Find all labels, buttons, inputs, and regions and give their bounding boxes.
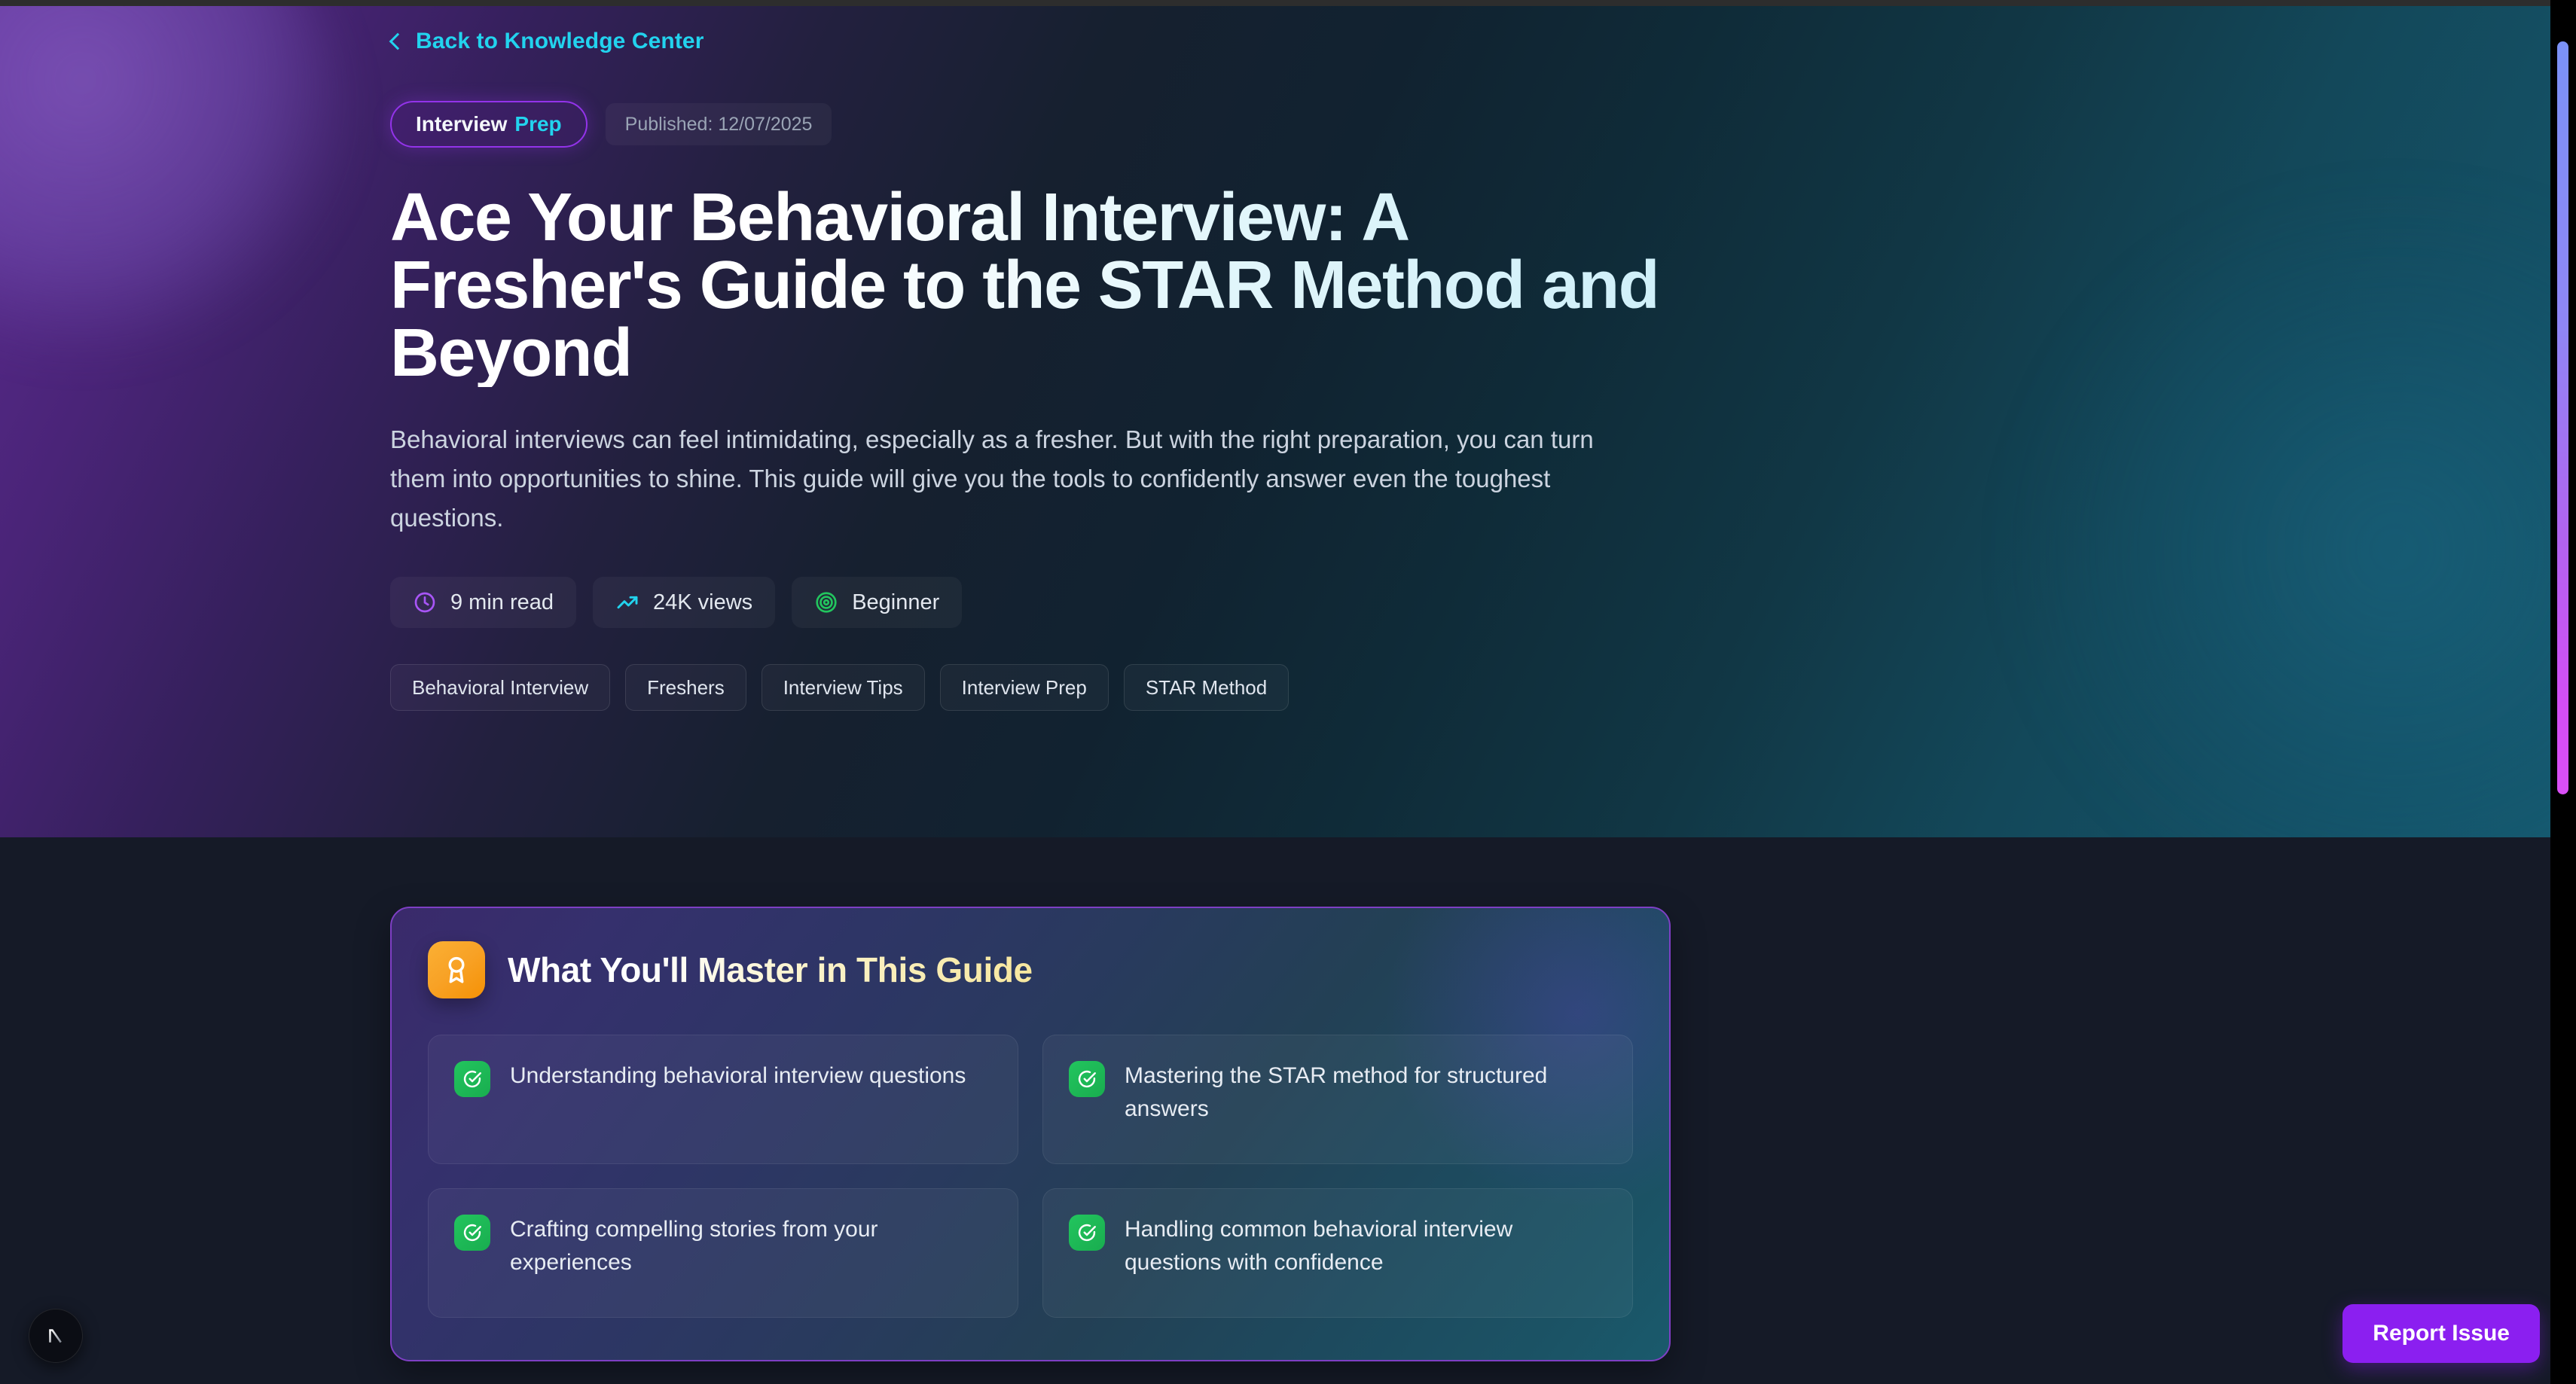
what-you-will-master-card: What You'll Master in This Guide Underst… — [390, 907, 1671, 1361]
stat-read-time-label: 9 min read — [450, 590, 554, 615]
tag-item[interactable]: Freshers — [625, 664, 746, 711]
stat-views-label: 24K views — [653, 590, 752, 615]
mastery-item[interactable]: Handling common behavioral interview que… — [1042, 1188, 1633, 1318]
master-card-title: What You'll Master in This Guide — [508, 950, 1033, 990]
page-scrollbar-track[interactable] — [2550, 0, 2576, 1384]
chevron-left-icon — [389, 32, 407, 50]
mastery-item-text: Mastering the STAR method for structured… — [1125, 1059, 1607, 1126]
mastery-item[interactable]: Understanding behavioral interview quest… — [428, 1035, 1018, 1164]
stat-views: 24K views — [593, 577, 775, 628]
clock-icon — [413, 590, 437, 614]
check-circle-icon — [454, 1061, 490, 1097]
mastery-item[interactable]: Mastering the STAR method for structured… — [1042, 1035, 1633, 1164]
report-issue-button[interactable]: Report Issue — [2343, 1304, 2540, 1363]
article-page: Back to Knowledge Center Interview Prep … — [0, 0, 2576, 1384]
page-title: Ace Your Behavioral Interview: A Fresher… — [390, 184, 1701, 387]
master-card-title-part1: What You'll Master in — [508, 950, 856, 989]
stat-read-time: 9 min read — [390, 577, 576, 628]
published-date: Published: 12/07/2025 — [606, 103, 832, 145]
target-icon — [814, 590, 838, 614]
page-description: Behavioral interviews can feel intimidat… — [390, 420, 1610, 538]
hero-purple-blob — [0, 0, 346, 369]
page-scrollbar-thumb[interactable] — [2557, 41, 2568, 794]
tag-item[interactable]: STAR Method — [1124, 664, 1289, 711]
hero-section: Back to Knowledge Center Interview Prep … — [0, 0, 2576, 837]
mastery-items-grid: Understanding behavioral interview quest… — [428, 1035, 1633, 1318]
hero-meta-row: Interview Prep Published: 12/07/2025 — [390, 101, 2214, 148]
category-badge[interactable]: Interview Prep — [390, 101, 588, 148]
mastery-item-text: Handling common behavioral interview que… — [1125, 1213, 1607, 1280]
article-content: What You'll Master in This Guide Underst… — [362, 907, 2214, 1361]
mastery-item-text: Crafting compelling stories from your ex… — [510, 1213, 992, 1280]
check-circle-icon — [1069, 1215, 1105, 1251]
check-circle-icon — [1069, 1061, 1105, 1097]
check-circle-icon — [454, 1215, 490, 1251]
category-badge-word2: Prep — [514, 112, 561, 136]
master-card-header: What You'll Master in This Guide — [428, 941, 1633, 998]
back-to-knowledge-center-link[interactable]: Back to Knowledge Center — [392, 29, 704, 54]
tags-row: Behavioral Interview Freshers Interview … — [390, 664, 2214, 711]
nextjs-dev-badge[interactable] — [29, 1309, 83, 1363]
award-icon — [428, 941, 485, 998]
back-link-label: Back to Knowledge Center — [416, 29, 704, 54]
nextjs-logo-icon — [41, 1321, 71, 1351]
trending-up-icon — [615, 590, 639, 614]
mastery-item[interactable]: Crafting compelling stories from your ex… — [428, 1188, 1018, 1318]
mastery-item-text: Understanding behavioral interview quest… — [510, 1059, 966, 1093]
stat-difficulty: Beginner — [792, 577, 962, 628]
master-card-title-part2: This Guide — [856, 950, 1033, 989]
tag-item[interactable]: Behavioral Interview — [390, 664, 610, 711]
tag-item[interactable]: Interview Prep — [940, 664, 1109, 711]
article-stats-row: 9 min read 24K views — [390, 577, 2214, 628]
tag-item[interactable]: Interview Tips — [762, 664, 925, 711]
browser-top-strip — [0, 0, 2550, 6]
stat-difficulty-label: Beginner — [852, 590, 939, 615]
category-badge-word1: Interview — [416, 112, 507, 136]
